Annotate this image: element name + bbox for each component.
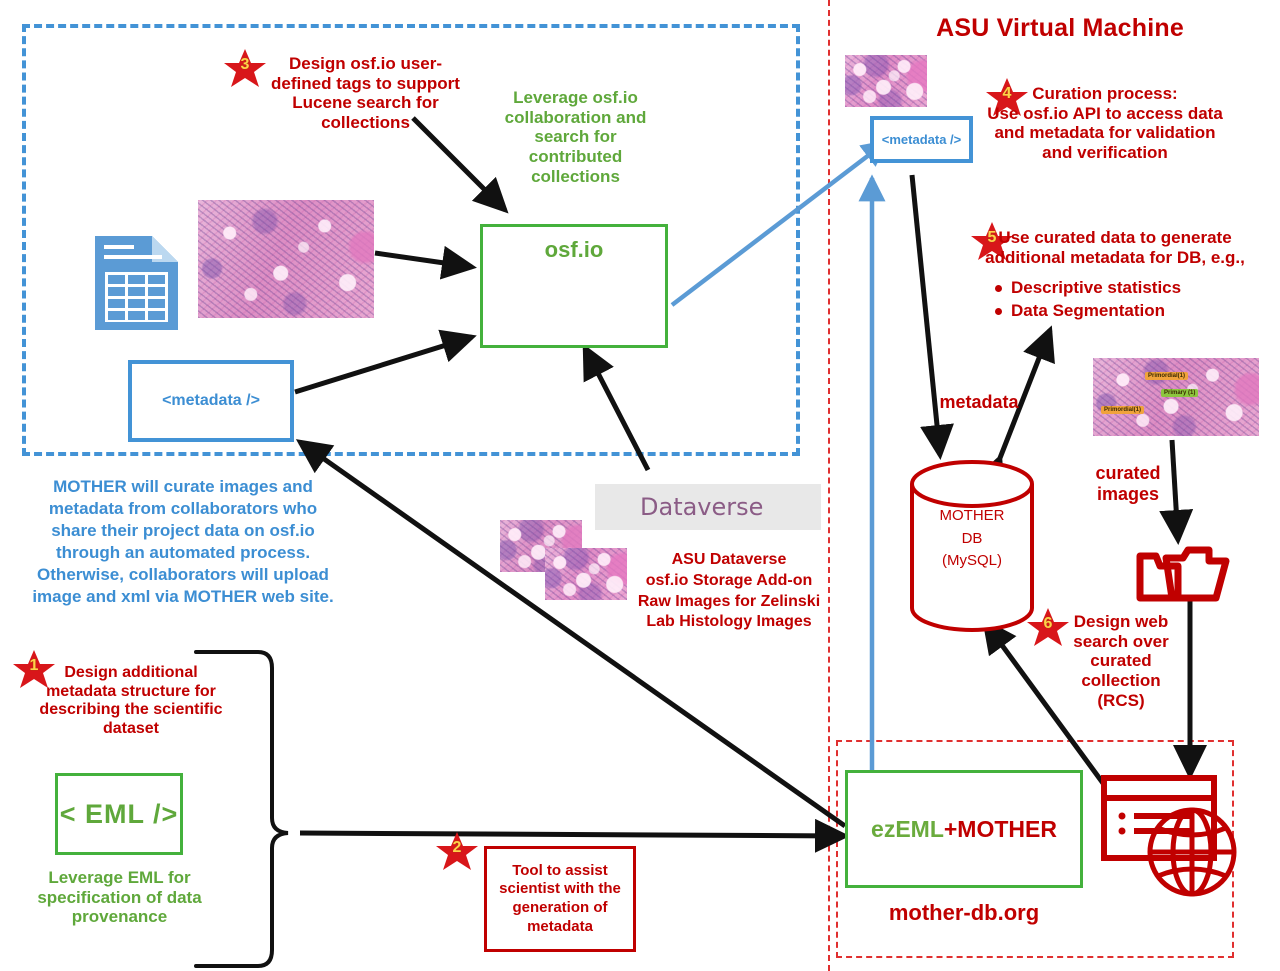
ezeml-suffix: +MOTHER: [944, 816, 1057, 842]
db-line-1: MOTHER: [912, 505, 1032, 528]
ezeml-prefix: ezEML: [871, 816, 944, 842]
dataverse-badge[interactable]: Dataverse: [595, 484, 821, 530]
mother-db-label: MOTHER DB (MySQL): [912, 505, 1032, 573]
star4-text: Curation process: Use osf.io API to acce…: [955, 84, 1255, 163]
star-icon-2: 2: [435, 830, 479, 872]
tool-assist-scientist-box[interactable]: Tool to assist scientist with the genera…: [484, 846, 636, 952]
mother-curate-note: MOTHER will curate images and metadata f…: [12, 476, 354, 609]
dataverse-note: ASU Dataverse osf.io Storage Add-on Raw …: [620, 550, 838, 633]
curated-images-label: curated images: [1082, 463, 1174, 505]
vm-title: ASU Virtual Machine: [900, 14, 1220, 43]
eml-label: < EML />: [60, 799, 179, 830]
image-label-primordial-1: Primordial(1): [1145, 372, 1188, 380]
folder-stack-red-icon: [1140, 550, 1226, 598]
dataverse-label: Dataverse: [640, 493, 763, 521]
tool-assist-scientist-text: Tool to assist scientist with the genera…: [499, 862, 621, 936]
metadata-left-box[interactable]: <metadata />: [128, 360, 294, 442]
diagram-canvas: Primordial(1) Primordial(1) Primary (1) …: [0, 0, 1280, 971]
histology-image-thumbnail: [545, 548, 627, 600]
star5-bullet-1: Descriptive statistics: [1011, 278, 1181, 298]
metadata-left-label: <metadata />: [162, 392, 260, 410]
star1-text: Design additional metadata structure for…: [22, 664, 240, 738]
image-label-primordial-1: Primordial(1): [1101, 406, 1144, 414]
db-line-3: (MySQL): [912, 550, 1032, 573]
bullet-dot: [995, 285, 1002, 292]
db-line-2: DB: [912, 528, 1032, 551]
eml-leverage-text: Leverage EML for specification of data p…: [22, 868, 217, 927]
curated-annotated-image: Primordial(1) Primordial(1) Primary (1): [1093, 358, 1259, 436]
metadata-right-label: <metadata />: [882, 132, 962, 147]
mother-db-org-label: mother-db.org: [845, 900, 1083, 926]
eml-box[interactable]: < EML />: [55, 773, 183, 855]
bullet-dot: [995, 308, 1002, 315]
star6-text: Design web search over curated collectio…: [1062, 612, 1180, 711]
ezeml-mother-label: ezEML+MOTHER: [871, 816, 1057, 843]
histology-image-thumbnail: [198, 200, 374, 318]
osf-io-node-box[interactable]: osf.io: [480, 224, 668, 348]
star5-bullet-list: Descriptive statistics Data Segmentation: [995, 278, 1265, 321]
star3-text: Design osf.io user- defined tags to supp…: [258, 54, 473, 133]
ezeml-mother-box[interactable]: ezEML+MOTHER: [845, 770, 1083, 888]
histology-image-thumbnail: [845, 55, 927, 107]
osf-io-label: osf.io: [483, 237, 665, 263]
osf-leverage-text: Leverage osf.io collaboration and search…: [498, 88, 653, 187]
image-label-primary-1: Primary (1): [1161, 389, 1198, 397]
star5-bullet-2: Data Segmentation: [1011, 301, 1165, 321]
star5-text: Use curated data to generate additional …: [960, 228, 1270, 267]
star-number-2: 2: [435, 839, 479, 857]
vm-divider-dashed-line: [828, 0, 830, 971]
metadata-edge-label: metadata: [934, 392, 1024, 413]
